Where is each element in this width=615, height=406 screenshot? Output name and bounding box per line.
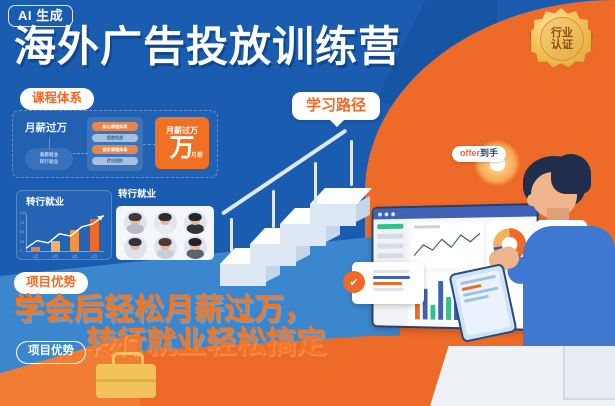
chart-plot-area: 10075502501月2月3月4月 xyxy=(26,214,104,252)
chart-y-tick: 25 xyxy=(20,241,24,245)
dashboard-bar xyxy=(446,297,451,320)
chart-trend-line xyxy=(26,214,104,252)
students-avatar-grid xyxy=(116,206,214,260)
page-title: 海外广告投放训练营 xyxy=(14,26,401,68)
avatar-body xyxy=(187,224,204,234)
avatar-hair xyxy=(129,238,142,246)
float-card-line-blue xyxy=(373,276,410,279)
chart-y-tick: 50 xyxy=(20,231,24,235)
avatar xyxy=(124,236,147,259)
chart-x-tick: 1月 xyxy=(28,256,44,260)
poster-root: AI 生成 海外广告投放训练营 行业 认证 课程体系 月薪过万 高薪就业 转行就… xyxy=(0,0,615,406)
headline-line-1: 学会后轻松月薪过万， xyxy=(14,293,314,326)
dashboard-sidebar-item xyxy=(377,224,403,229)
certification-seal: 行业 认证 xyxy=(531,8,591,68)
seal-line-2: 认证 xyxy=(551,39,573,51)
students-card-title: 转行就业 xyxy=(118,190,156,200)
chart-y-tick: 75 xyxy=(20,222,24,226)
dashboard-line-chart xyxy=(411,221,483,268)
dashboard-sidebar-item xyxy=(377,243,403,248)
label-project-advantage-top: 项目优势 xyxy=(14,272,88,294)
avatar-hair xyxy=(189,238,202,246)
stair-front xyxy=(310,204,356,226)
avatar xyxy=(154,211,177,234)
diagram-highlight-sub: 月薪 xyxy=(191,153,203,159)
diagram-highlight-box: 月薪过万 万 月薪 xyxy=(155,117,209,169)
label-course-system: 课程体系 xyxy=(20,88,94,110)
avatar xyxy=(184,211,207,234)
person-illustration xyxy=(505,150,615,350)
avatar-hair xyxy=(159,238,172,246)
students-card: 转行就业 xyxy=(116,190,214,260)
person-body xyxy=(523,226,615,346)
stair-step xyxy=(310,188,370,226)
diagram-bubble: 高薪就业 转行就业 xyxy=(25,148,73,170)
float-card-line-orange xyxy=(373,282,402,285)
person-hair-front xyxy=(551,154,591,194)
chart-title: 转行就业 xyxy=(26,198,64,208)
check-circle-icon: ✔ xyxy=(343,271,365,293)
stair-front xyxy=(220,264,266,286)
diagram-mid-head-1: 核心课程体系 xyxy=(92,122,138,131)
diagram-bubble-line-2: 转行就业 xyxy=(40,159,58,166)
stair-rail-post xyxy=(230,218,233,252)
offer-badge-suffix: 到手 xyxy=(480,148,498,158)
offer-badge-prefix: offer xyxy=(460,148,480,158)
diagram-bubble-line-1: 高薪就业 xyxy=(40,152,58,159)
stair-front xyxy=(280,224,326,246)
diagram-node-title: 月薪过万 xyxy=(25,123,67,134)
avatar-hair xyxy=(189,213,202,221)
avatar-hair xyxy=(159,213,172,221)
avatar-body xyxy=(157,224,174,234)
seal-line-1: 行业 xyxy=(551,27,573,39)
stair-front xyxy=(250,244,296,266)
chart-x-tick: 2月 xyxy=(47,256,63,260)
avatar-body xyxy=(127,249,144,259)
avatar xyxy=(184,236,207,259)
chart-y-tick: 0 xyxy=(20,250,22,254)
avatar-body xyxy=(127,224,144,234)
diagram-mid-row-2: 优化进阶 xyxy=(92,157,138,165)
dashboard-sidebar-item xyxy=(377,253,403,258)
diagram-mid-row-1: 投放实战 xyxy=(92,134,138,142)
tablet-screen xyxy=(455,270,510,336)
offer-badge: offer到手 xyxy=(452,146,506,162)
employment-chart-card: 转行就业 10075502501月2月3月4月 xyxy=(16,190,112,260)
window-dot-icon xyxy=(391,212,395,216)
diagram-dash-line-1 xyxy=(73,153,88,154)
float-card-line xyxy=(373,288,404,291)
avatar xyxy=(154,236,177,259)
suitcase-stripe xyxy=(96,379,156,382)
avatar-body xyxy=(187,249,204,259)
chart-x-tick: 3月 xyxy=(67,256,83,260)
seal-inner: 行业 认证 xyxy=(540,17,584,61)
label-project-advantage-bottom: 项目优势 xyxy=(16,341,86,364)
window-dot-icon xyxy=(385,212,389,216)
dashboard-float-card: ✔ xyxy=(352,262,424,304)
stair-rail-post xyxy=(350,140,353,186)
stairs-illustration xyxy=(216,140,366,290)
avatar-hair xyxy=(129,213,142,221)
dashboard-bar xyxy=(438,281,443,320)
dashboard-bar xyxy=(430,305,435,320)
stair-rail-post xyxy=(272,190,275,228)
diagram-mid-head-2: 进阶课程体系 xyxy=(92,145,138,154)
line-chart-path xyxy=(414,233,480,255)
chart-x-tick: 4月 xyxy=(86,256,102,260)
stair-rail-post xyxy=(314,162,317,204)
diagram-mid-box: 核心课程体系 投放实战 进阶课程体系 优化进阶 xyxy=(87,117,143,171)
avatar xyxy=(124,211,147,234)
person-ear xyxy=(527,194,537,206)
window-dot-icon xyxy=(378,212,382,216)
line-chart-svg xyxy=(414,231,480,265)
float-card-line xyxy=(373,270,409,273)
panel-title-bar xyxy=(414,225,440,228)
course-system-diagram: 月薪过万 高薪就业 转行就业 核心课程体系 投放实战 进阶课程体系 优化进阶 月… xyxy=(12,110,218,178)
learning-path-bubble: 学习路径 xyxy=(292,92,380,120)
dashboard-sidebar-item xyxy=(377,234,403,239)
suitcase-icon xyxy=(96,352,156,398)
avatar-body xyxy=(157,249,174,259)
